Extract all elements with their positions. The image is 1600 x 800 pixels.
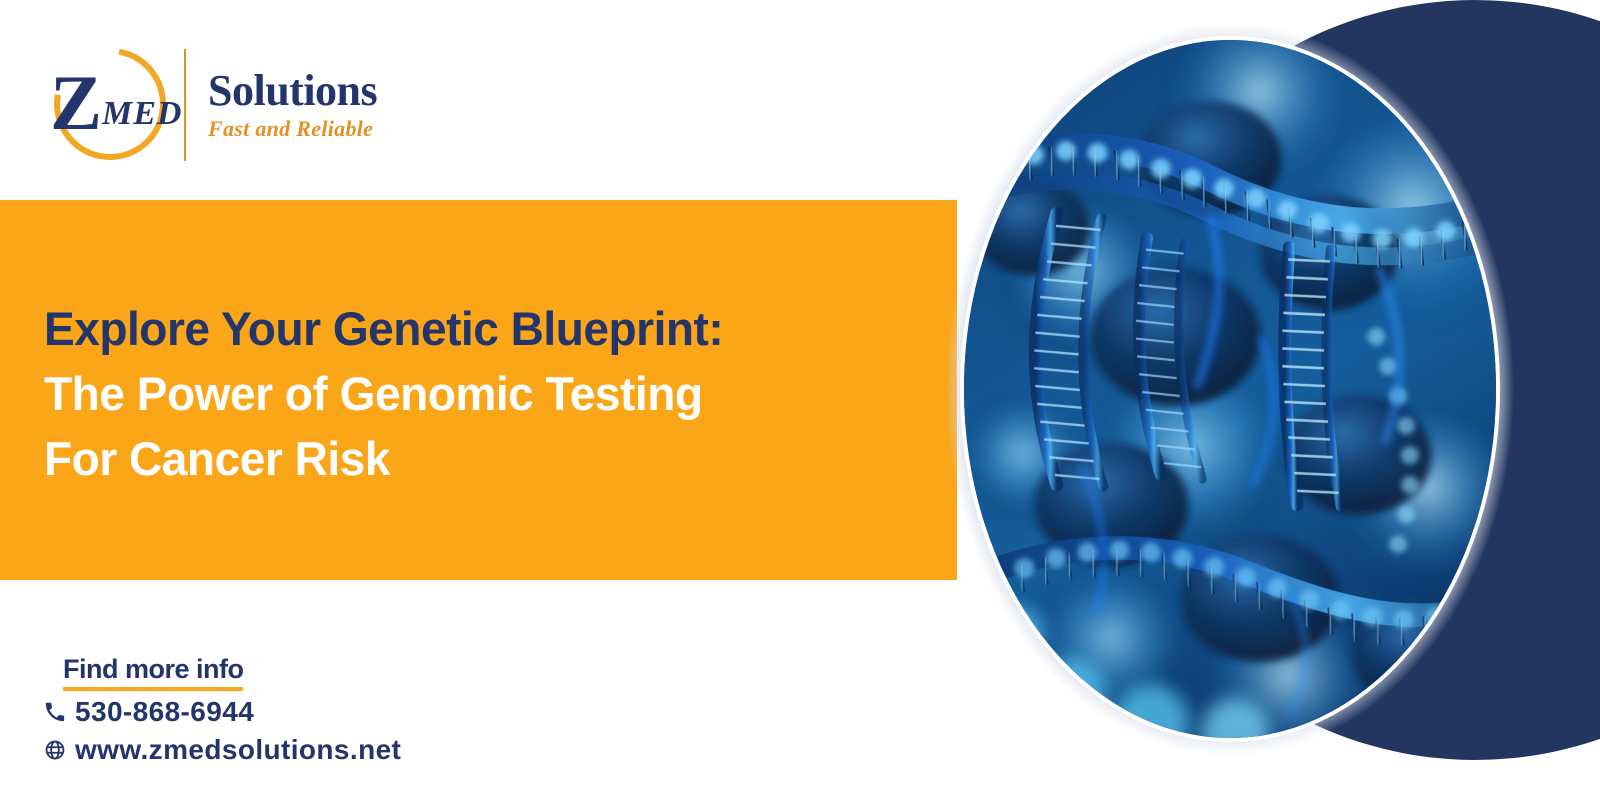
dna-artwork (960, 36, 1500, 742)
phone-icon (44, 701, 66, 723)
contact-heading: Find more info (63, 652, 243, 691)
contact-info: Find more info 530-868-6944 www.zmedsolu… (44, 652, 401, 767)
marketing-banner: Z MED Solutions Fast and Reliable Explor… (0, 0, 1600, 800)
dna-image-frame (960, 36, 1500, 742)
contact-phone-row[interactable]: 530-868-6944 (44, 695, 401, 729)
brand-tagline: Fast and Reliable (208, 115, 377, 143)
logo-letter-z: Z (50, 64, 100, 142)
dna-double-helix-icon (964, 40, 1496, 738)
brand-logo[interactable]: Z MED Solutions Fast and Reliable (40, 42, 377, 167)
headline-line-3: For Cancer Risk (44, 426, 926, 491)
logo-wordmark: Solutions Fast and Reliable (208, 67, 377, 143)
contact-website-row[interactable]: www.zmedsolutions.net (44, 733, 401, 767)
headline-line-1: Explore Your Genetic Blueprint: (44, 296, 926, 361)
brand-name: Solutions (208, 67, 377, 115)
logo-text-med: MED (102, 97, 182, 131)
phone-number: 530-868-6944 (75, 695, 254, 729)
website-url: www.zmedsolutions.net (75, 733, 401, 767)
globe-icon (44, 739, 66, 761)
logo-mark: Z MED (40, 42, 170, 167)
logo-divider (184, 49, 186, 161)
page-title: Explore Your Genetic Blueprint: The Powe… (44, 296, 926, 491)
headline-line-2: The Power of Genomic Testing (44, 361, 926, 426)
